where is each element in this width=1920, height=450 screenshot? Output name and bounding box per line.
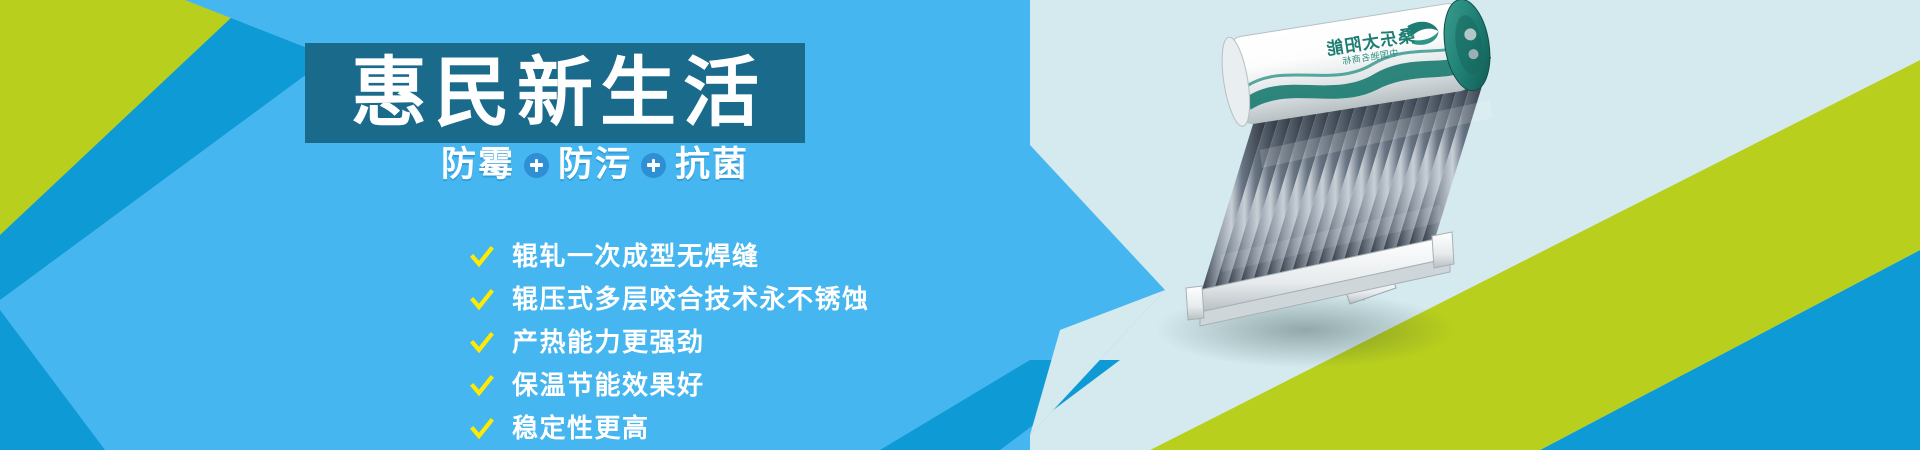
feature-label: 辊轧一次成型无焊缝 bbox=[512, 244, 760, 270]
plus-circle-icon bbox=[641, 153, 666, 178]
feature-list: 辊轧一次成型无焊缝 辊压式多层咬合技术永不锈蚀 产热能力更强劲 保温节能效果好 bbox=[470, 240, 870, 446]
list-item: 产热能力更强劲 bbox=[470, 326, 870, 360]
list-item: 辊压式多层咬合技术永不锈蚀 bbox=[470, 283, 870, 317]
headline-title: 惠民新生活 bbox=[344, 55, 766, 131]
promotional-banner: 桑乐太阳能 中国驰名商标 惠民新生活 防霉 防污 抗菌 辊轧一次成型无焊缝 辊压… bbox=[0, 0, 1920, 450]
list-item: 辊轧一次成型无焊缝 bbox=[470, 240, 870, 274]
check-icon bbox=[470, 374, 494, 398]
feature-label: 产热能力更强劲 bbox=[512, 330, 705, 356]
check-icon bbox=[470, 331, 494, 355]
check-icon bbox=[470, 288, 494, 312]
feature-label: 保温节能效果好 bbox=[512, 373, 705, 399]
subtitle-row: 防霉 防污 抗菌 bbox=[380, 142, 810, 188]
list-item: 稳定性更高 bbox=[470, 412, 870, 446]
solar-water-heater-product-image bbox=[1140, 0, 1540, 400]
subtitle-word-2: 防污 bbox=[558, 148, 632, 183]
list-item: 保温节能效果好 bbox=[470, 369, 870, 403]
feature-label: 辊压式多层咬合技术永不锈蚀 bbox=[512, 287, 870, 313]
subtitle-word-1: 防霉 bbox=[441, 148, 515, 183]
headline-box: 惠民新生活 bbox=[305, 43, 805, 143]
plus-circle-icon bbox=[524, 153, 549, 178]
feature-label: 稳定性更高 bbox=[512, 416, 650, 442]
check-icon bbox=[470, 245, 494, 269]
subtitle-word-3: 抗菌 bbox=[675, 148, 749, 183]
check-icon bbox=[470, 417, 494, 441]
background-graphics bbox=[0, 0, 1920, 450]
